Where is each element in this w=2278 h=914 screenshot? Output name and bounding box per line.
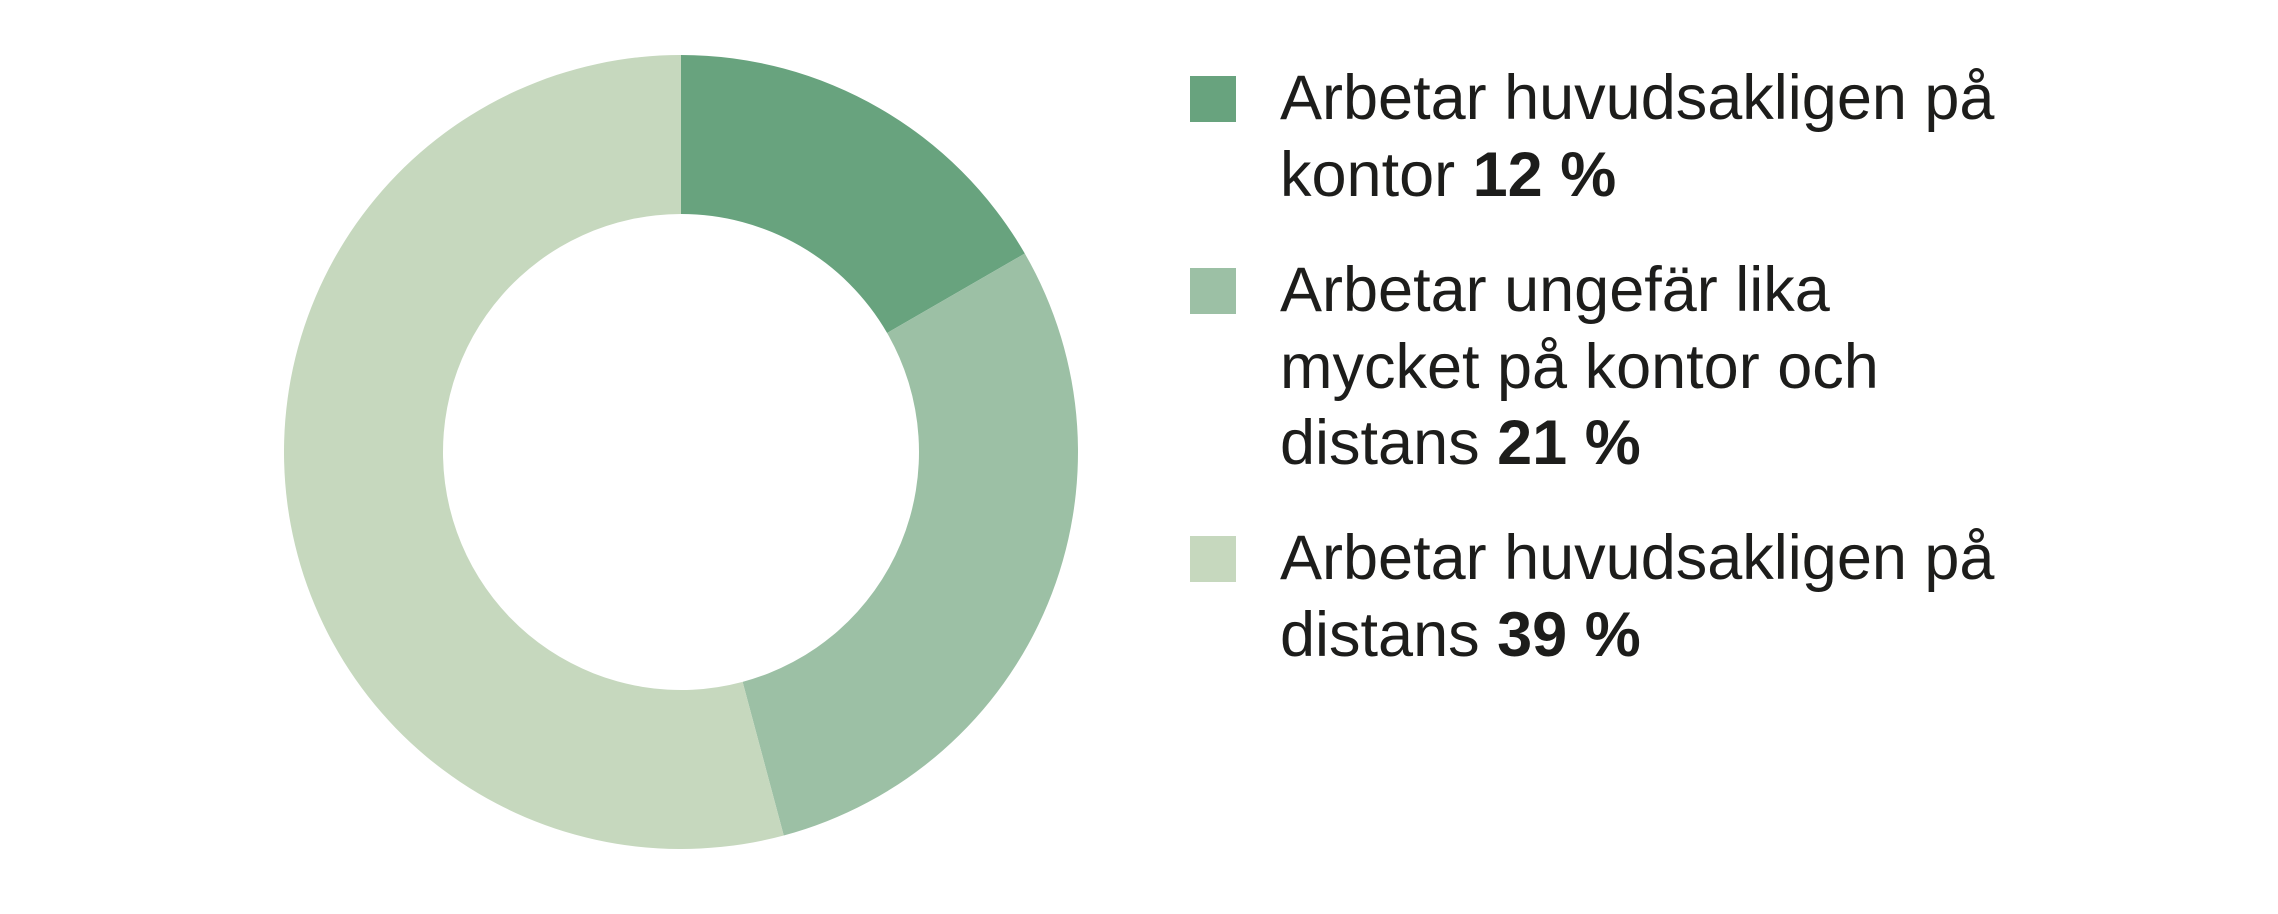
donut-chart-svg (284, 55, 1078, 849)
legend-item[interactable]: Arbetar huvudsakligen på kontor 12 % (1190, 60, 2090, 214)
legend-swatch-icon (1190, 76, 1236, 122)
legend-item-value: 21 % (1497, 408, 1641, 478)
chart-legend: Arbetar huvudsakligen på kontor 12 % Arb… (1190, 60, 2090, 712)
donut-slice-group (284, 55, 1078, 849)
legend-swatch-icon (1190, 536, 1236, 582)
legend-item[interactable]: Arbetar ungefär lika mycket på kontor oc… (1190, 252, 2090, 483)
legend-item-text: Arbetar huvudsakligen på kontor (1280, 63, 1994, 210)
legend-item-value: 39 % (1497, 600, 1641, 670)
legend-swatch-icon (1190, 268, 1236, 314)
donut-chart-figure: Arbetar huvudsakligen på kontor 12 % Arb… (0, 0, 2278, 914)
legend-item-label: Arbetar ungefär lika mycket på kontor oc… (1280, 252, 2040, 483)
donut-chart (284, 55, 1078, 849)
donut-slice[interactable] (743, 254, 1078, 836)
legend-item-label: Arbetar huvudsakligen på kontor 12 % (1280, 60, 2040, 214)
legend-item-value: 12 % (1473, 140, 1617, 210)
legend-item-label: Arbetar huvudsakligen på distans 39 % (1280, 520, 2040, 674)
legend-item[interactable]: Arbetar huvudsakligen på distans 39 % (1190, 520, 2090, 674)
